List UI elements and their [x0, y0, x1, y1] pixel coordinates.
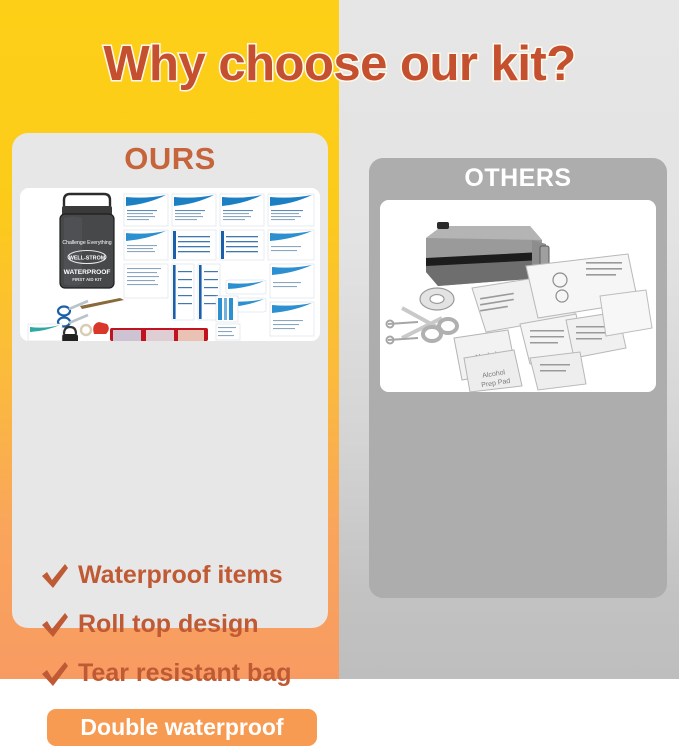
alcohol-prep-pad-graphic: Alcohol Prep Pad — [464, 350, 522, 392]
ours-panel: OURS Challenge Everything WELL-STROM WAT… — [12, 133, 328, 628]
list-item: Tear resistant bag — [38, 649, 334, 698]
check-icon — [38, 611, 72, 639]
sachet-graphic — [530, 352, 586, 390]
others-product-photo: Alcohol Prep Pad Alcohol Prep Pad — [380, 200, 656, 392]
others-heading: OTHERS — [369, 158, 667, 193]
check-icon — [38, 660, 72, 688]
ours-feature-label: Roll top design — [72, 610, 259, 639]
others-kit-illustration: Alcohol Prep Pad Alcohol Prep Pad — [380, 200, 656, 392]
double-waterproof-button[interactable]: Double waterproof — [47, 709, 317, 746]
svg-text:WELL-STROM: WELL-STROM — [69, 256, 106, 262]
ours-heading: OURS — [12, 133, 328, 177]
svg-text:FIRST AID KIT: FIRST AID KIT — [72, 277, 102, 282]
page-title: Why choose our kit? — [0, 36, 679, 92]
dry-bag-graphic: Challenge Everything WELL-STROM WATERPRO… — [60, 194, 114, 288]
ours-feature-label: Tear resistant bag — [72, 659, 292, 688]
sachet-graphic — [600, 290, 652, 336]
check-icon — [38, 562, 72, 590]
list-item: Roll top design — [38, 600, 334, 649]
ours-product-photo: Challenge Everything WELL-STROM WATERPRO… — [20, 188, 320, 341]
ours-kit-illustration: Challenge Everything WELL-STROM WATERPRO… — [20, 188, 320, 341]
ours-feature-label: Waterproof items — [72, 561, 283, 590]
others-panel: OTHERS — [369, 158, 667, 598]
red-pouch-graphic — [110, 328, 208, 341]
list-item: Waterproof items — [38, 551, 334, 600]
svg-text:Challenge Everything: Challenge Everything — [62, 240, 111, 246]
tape-roll-graphic — [420, 288, 454, 310]
ours-feature-list: Waterproof items Roll top design Tear re… — [38, 551, 334, 698]
svg-text:WATERPROOF: WATERPROOF — [64, 269, 111, 276]
